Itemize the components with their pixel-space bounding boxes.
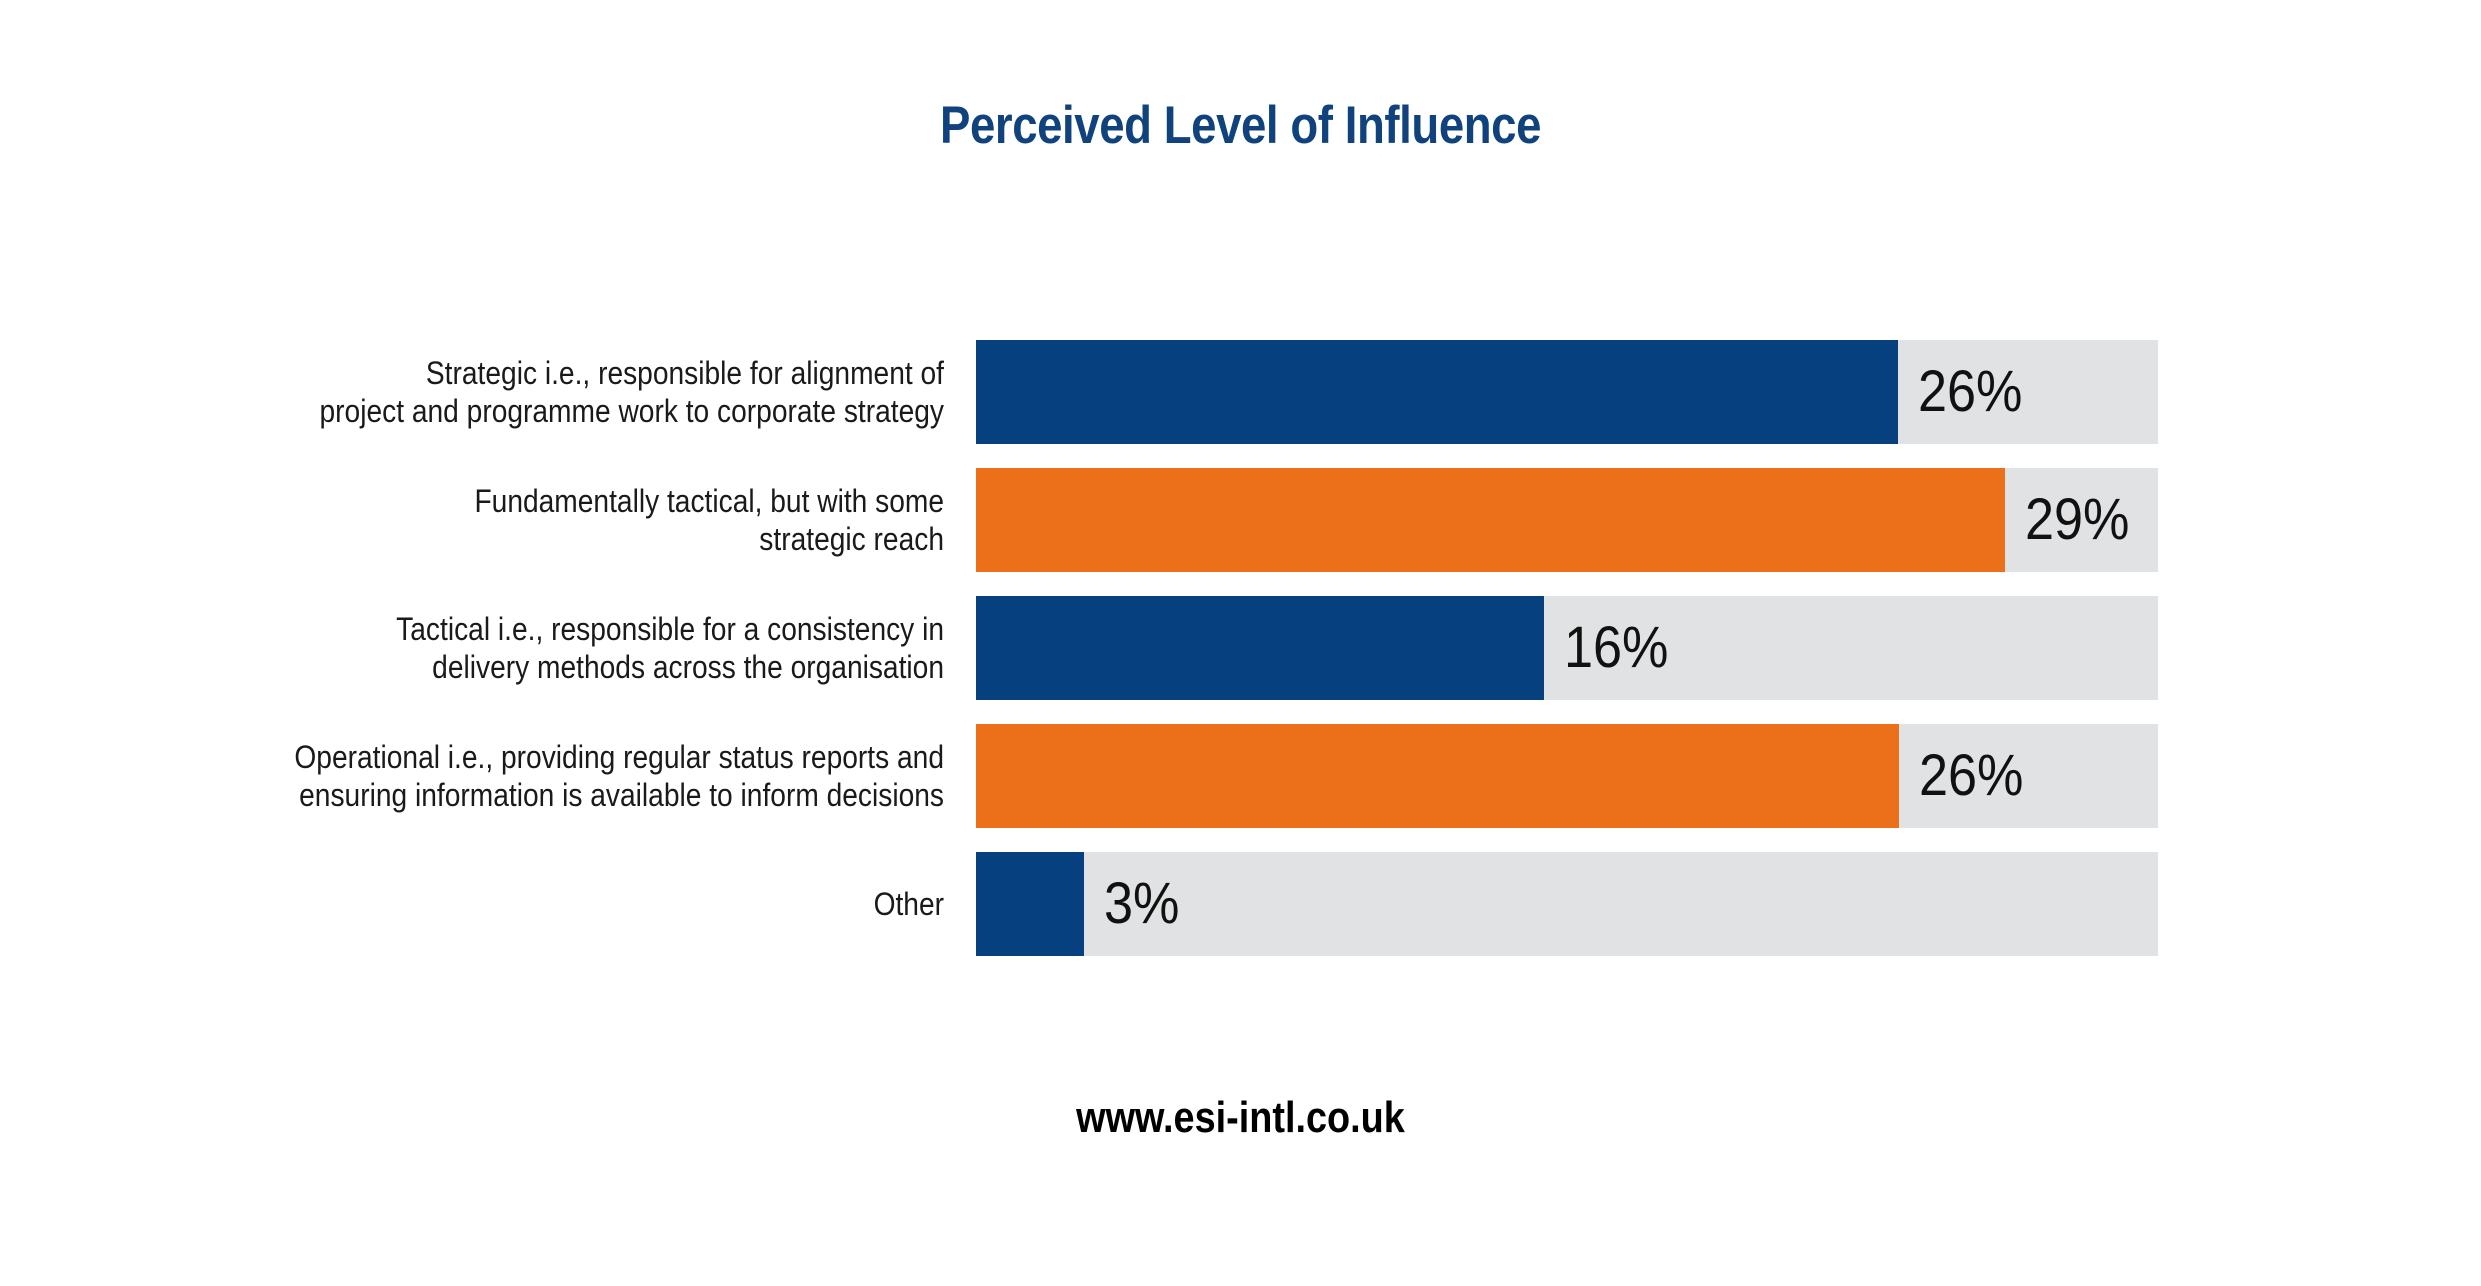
bar-category-label: Operational i.e., providing regular stat… <box>275 738 944 814</box>
bar-value-label: 26% <box>1918 362 2022 422</box>
bar-category-label-line: Strategic i.e., responsible for alignmen… <box>275 354 944 392</box>
bar-category-label-line: project and programme work to corporate … <box>275 392 944 430</box>
bar-fill <box>976 596 1544 700</box>
bar-row: Strategic i.e., responsible for alignmen… <box>0 340 2481 444</box>
bar-category-label-line: Operational i.e., providing regular stat… <box>275 738 944 776</box>
bar-category-label-line: ensuring information is available to inf… <box>275 776 944 814</box>
bar-category-label: Fundamentally tactical, but with somestr… <box>275 482 944 558</box>
bar-category-label: Tactical i.e., responsible for a consist… <box>275 610 944 686</box>
bar-fill <box>976 340 1898 444</box>
bar-fill <box>976 724 1899 828</box>
bar-category-label-line: Tactical i.e., responsible for a consist… <box>275 610 944 648</box>
bar-row: Other3% <box>0 852 2481 956</box>
bar-row: Tactical i.e., responsible for a consist… <box>0 596 2481 700</box>
bar-track: 26% <box>976 724 2158 828</box>
bar-row: Fundamentally tactical, but with somestr… <box>0 468 2481 572</box>
bar-category-label-line: Other <box>275 885 944 923</box>
bar-fill <box>976 468 2005 572</box>
bar-category-label-line: strategic reach <box>275 520 944 558</box>
bar-fill <box>976 852 1084 956</box>
bar-track: 29% <box>976 468 2158 572</box>
bar-category-label-line: Fundamentally tactical, but with some <box>275 482 944 520</box>
footer-url: www.esi-intl.co.uk <box>174 1094 2308 1142</box>
bar-value-label: 29% <box>2025 490 2129 550</box>
bar-track: 16% <box>976 596 2158 700</box>
bar-value-label: 26% <box>1919 746 2023 806</box>
bar-value-label: 16% <box>1564 618 1668 678</box>
chart-canvas: Perceived Level of Influence Strategic i… <box>0 0 2481 1286</box>
bar-row: Operational i.e., providing regular stat… <box>0 724 2481 828</box>
bar-track: 3% <box>976 852 2158 956</box>
bar-value-label: 3% <box>1104 874 1179 934</box>
bar-category-label-line: delivery methods across the organisation <box>275 648 944 686</box>
page-title: Perceived Level of Influence <box>174 97 2308 155</box>
bar-category-label: Other <box>275 885 944 923</box>
bar-track: 26% <box>976 340 2158 444</box>
bar-category-label: Strategic i.e., responsible for alignmen… <box>275 354 944 430</box>
bar-chart-plot-area: Strategic i.e., responsible for alignmen… <box>0 340 2481 950</box>
